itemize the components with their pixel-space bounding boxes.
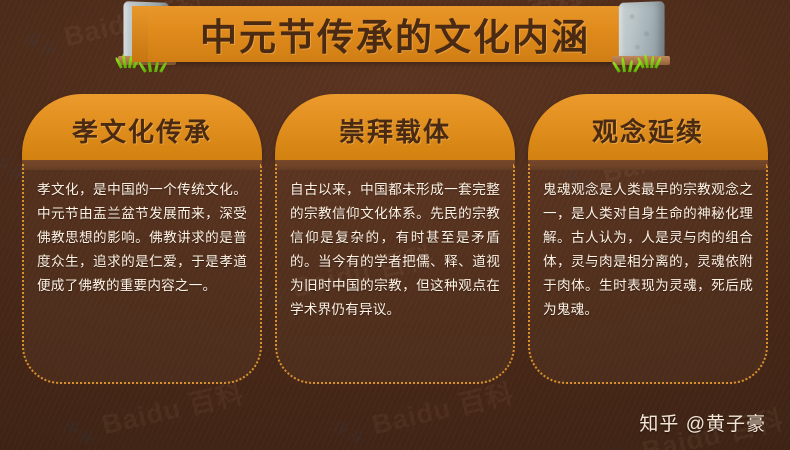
author-credit: 知乎 @黄子豪: [639, 409, 766, 436]
poster-canvas: 🐾 Baidu 百科 🐾 Baidu 百科 🐾 Baidu 百科 🐾 Baidu…: [0, 0, 790, 450]
card-heading: 孝文化传承: [72, 112, 212, 149]
title-banner: 中元节传承的文化内涵: [140, 6, 650, 62]
content-card: 崇拜载体 自古以来，中国都未形成一套完整的宗教信仰文化体系。先民的宗教信仰是复杂…: [275, 94, 515, 384]
page-title: 中元节传承的文化内涵: [140, 6, 650, 62]
stone-tablet-right-icon: [612, 2, 674, 68]
card-header: 观念延续: [528, 94, 768, 160]
card-header: 孝文化传承: [22, 94, 262, 160]
card-heading: 观念延续: [592, 112, 704, 149]
card-body-text: 鬼魂观念是人类最早的宗教观念之一，是人类对自身生命的神秘化理解。古人认为，人是灵…: [543, 178, 753, 322]
title-zone: 中元节传承的文化内涵: [0, 0, 790, 88]
card-body-text: 孝文化，是中国的一个传统文化。中元节由盂兰盆节发展而来，深受佛教思想的影响。佛教…: [37, 178, 247, 298]
paw-icon: 🐾: [600, 441, 638, 450]
card-header: 崇拜载体: [275, 94, 515, 160]
paw-icon: 🐾: [60, 415, 98, 450]
content-card: 孝文化传承 孝文化，是中国的一个传统文化。中元节由盂兰盆节发展而来，深受佛教思想…: [22, 94, 262, 384]
card-body: 孝文化，是中国的一个传统文化。中元节由盂兰盆节发展而来，深受佛教思想的影响。佛教…: [22, 164, 262, 384]
paw-icon: 🐾: [330, 415, 368, 450]
card-list: 孝文化传承 孝文化，是中国的一个传统文化。中元节由盂兰盆节发展而来，深受佛教思想…: [0, 94, 790, 394]
card-body: 自古以来，中国都未形成一套完整的宗教信仰文化体系。先民的宗教信仰是复杂的，有时甚…: [275, 164, 515, 384]
content-card: 观念延续 鬼魂观念是人类最早的宗教观念之一，是人类对自身生命的神秘化理解。古人认…: [528, 94, 768, 384]
stone-base: [612, 56, 670, 65]
card-body-text: 自古以来，中国都未形成一套完整的宗教信仰文化体系。先民的宗教信仰是复杂的，有时甚…: [290, 178, 500, 322]
stone-slab: [619, 1, 665, 61]
card-body: 鬼魂观念是人类最早的宗教观念之一，是人类对自身生命的神秘化理解。古人认为，人是灵…: [528, 164, 768, 384]
card-heading: 崇拜载体: [339, 112, 451, 149]
